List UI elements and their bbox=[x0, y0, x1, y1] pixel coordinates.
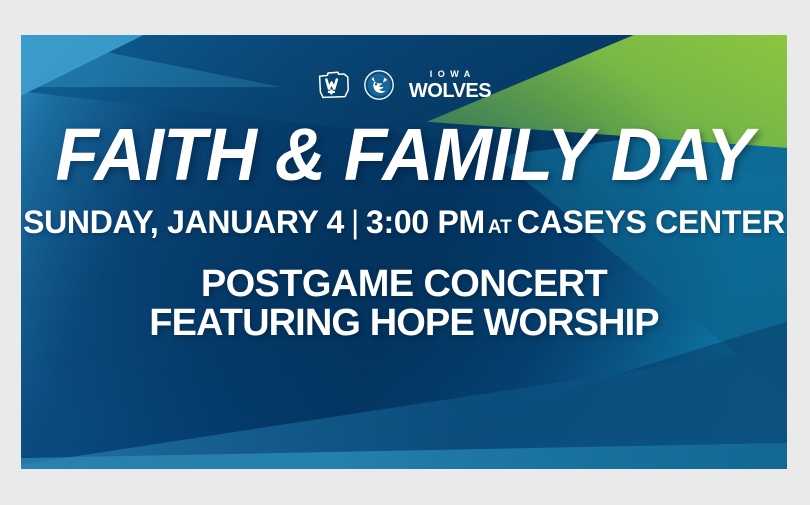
datetime-separator: | bbox=[344, 204, 366, 241]
concert-line-2: FEATURING HOPE WORSHIP bbox=[149, 304, 658, 343]
event-datetime-venue: SUNDAY, JANUARY 4 | 3:00 PM AT CASEYS CE… bbox=[23, 204, 785, 241]
event-day-date: SUNDAY, JANUARY 4 bbox=[23, 204, 344, 241]
event-headline: FAITH & FAMILY DAY bbox=[55, 120, 752, 190]
concert-announcement: POSTGAME CONCERT FEATURING HOPE WORSHIP bbox=[149, 265, 658, 343]
promo-graphic-page: IOWA WOLVES FAITH & FAMILY DAY SUNDAY, J… bbox=[0, 0, 810, 505]
event-venue: CASEYS CENTER bbox=[517, 204, 785, 241]
event-time: 3:00 PM bbox=[366, 204, 485, 241]
iowa-wolves-wordmark: IOWA WOLVES bbox=[409, 70, 491, 101]
wordmark-iowa-text: IOWA bbox=[424, 70, 476, 79]
iowa-state-w-icon bbox=[317, 70, 351, 100]
event-promo-banner: IOWA WOLVES FAITH & FAMILY DAY SUNDAY, J… bbox=[21, 35, 787, 469]
wolf-head-icon bbox=[364, 70, 394, 100]
wordmark-wolves-text: WOLVES bbox=[409, 81, 491, 101]
concert-line-1: POSTGAME CONCERT bbox=[149, 265, 658, 304]
event-at-word: AT bbox=[485, 217, 517, 239]
banner-content: IOWA WOLVES FAITH & FAMILY DAY SUNDAY, J… bbox=[21, 35, 787, 469]
logo-lockup: IOWA WOLVES bbox=[317, 68, 491, 102]
